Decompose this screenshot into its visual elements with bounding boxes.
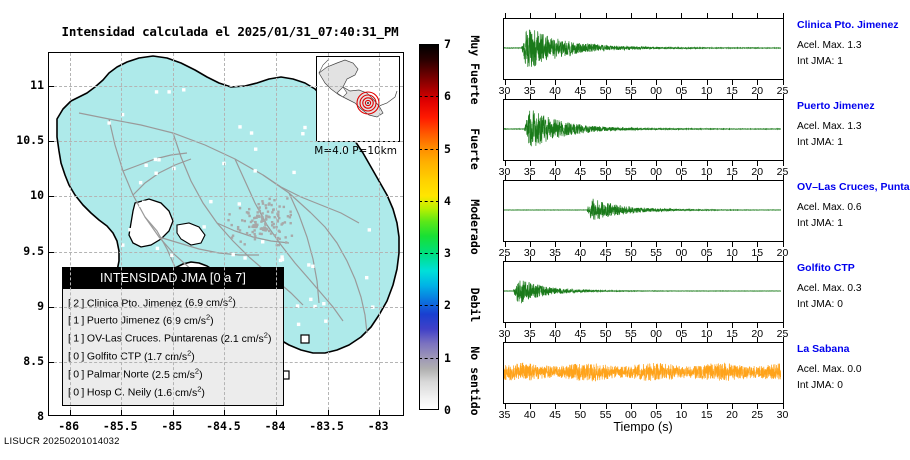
colorbar-tick-label: 1 bbox=[444, 351, 451, 365]
waveform-tick bbox=[681, 256, 682, 261]
max-acceleration-label: Acel. Max. 1.3 bbox=[797, 121, 862, 132]
town-marker bbox=[311, 265, 314, 268]
urban-cell bbox=[278, 205, 280, 207]
urban-cell bbox=[254, 238, 256, 240]
waveform-tick-row bbox=[503, 13, 784, 18]
urban-cell bbox=[244, 220, 246, 222]
urban-cell bbox=[267, 215, 269, 217]
urban-cell bbox=[268, 230, 270, 232]
town-marker bbox=[238, 125, 241, 128]
page-title: Intensidad calculada el 2025/01/31_07:40… bbox=[0, 24, 460, 39]
waveform-tick bbox=[530, 256, 531, 261]
waveform-tick bbox=[555, 175, 556, 180]
urban-cell bbox=[278, 217, 280, 219]
map-y-tick-label: 10 bbox=[30, 188, 44, 202]
map-y-tick bbox=[49, 86, 54, 87]
waveform-tick bbox=[580, 13, 581, 18]
urban-cell bbox=[285, 241, 287, 243]
waveform-tick-row bbox=[503, 337, 784, 342]
town-marker bbox=[368, 228, 371, 231]
colorbar-tick-label: 4 bbox=[444, 194, 451, 208]
town-marker bbox=[156, 247, 159, 250]
map-y-tick-label: 8.5 bbox=[23, 354, 44, 368]
urban-cell bbox=[287, 215, 289, 217]
waveform-line bbox=[504, 30, 781, 67]
urban-cell bbox=[228, 213, 230, 215]
town-marker bbox=[128, 228, 131, 231]
colorbar-tick bbox=[419, 358, 439, 359]
urban-cell bbox=[283, 206, 285, 208]
waveform-tick-label: 15 bbox=[701, 409, 713, 421]
waveform-tick bbox=[707, 94, 708, 99]
waveform-tick bbox=[505, 256, 506, 261]
waveform-tick-row bbox=[503, 161, 784, 166]
map-y-tick-label: 11 bbox=[30, 78, 44, 92]
legend-value: (6.9 cm/s2) bbox=[163, 315, 214, 327]
town-marker bbox=[243, 256, 246, 259]
waveform-xaxis-label: Tiempo (s) bbox=[613, 420, 672, 434]
legend-value: (2.1 cm/s2) bbox=[221, 333, 272, 345]
town-marker bbox=[297, 323, 300, 326]
waveform-tick bbox=[656, 337, 657, 342]
map-gridline bbox=[49, 141, 403, 142]
waveform-tick bbox=[656, 256, 657, 261]
jma-intensity-label: Int JMA: 0 bbox=[797, 299, 843, 310]
town-marker bbox=[104, 260, 107, 263]
map-gridline bbox=[49, 196, 403, 197]
max-acceleration-label: Acel. Max. 0.6 bbox=[797, 202, 862, 213]
town-marker bbox=[142, 201, 145, 204]
urban-cell bbox=[249, 234, 251, 236]
urban-cell bbox=[248, 208, 250, 210]
waveform-trace bbox=[504, 100, 781, 158]
jma-intensity-label: Int JMA: 1 bbox=[797, 56, 843, 67]
urban-cell bbox=[265, 204, 267, 206]
waveform-tick bbox=[783, 94, 784, 99]
urban-cell bbox=[239, 207, 241, 209]
colorbar-category-label: Muy Fuerte bbox=[468, 36, 482, 105]
waveform-tick bbox=[505, 337, 506, 342]
urban-cell bbox=[261, 200, 263, 202]
colorbar-tick bbox=[419, 305, 439, 306]
waveform-tick bbox=[631, 337, 632, 342]
colorbar-tick bbox=[419, 149, 439, 150]
urban-cell bbox=[251, 219, 253, 221]
waveform-tick bbox=[707, 175, 708, 180]
waveform-trace bbox=[504, 262, 781, 320]
urban-cell bbox=[278, 230, 280, 232]
map-x-tick bbox=[70, 410, 71, 415]
waveform-tick bbox=[606, 175, 607, 180]
intensity-map[interactable]: M=4.0 P=10km INTENSIDAD JMA [0 a 7] [ 2 … bbox=[48, 52, 404, 416]
waveform-tick bbox=[732, 175, 733, 180]
town-marker bbox=[322, 302, 325, 305]
waveform-tick bbox=[783, 175, 784, 180]
waveform-tick bbox=[505, 94, 506, 99]
town-marker bbox=[202, 225, 205, 228]
urban-cell bbox=[265, 217, 267, 219]
urban-cell bbox=[284, 236, 286, 238]
waveform-tick bbox=[757, 94, 758, 99]
map-y-tick-label: 9 bbox=[37, 299, 44, 313]
waveform-tick bbox=[656, 94, 657, 99]
town-marker bbox=[182, 88, 185, 91]
urban-cell bbox=[264, 224, 266, 226]
station-marker bbox=[301, 335, 309, 343]
waveform-tick bbox=[656, 13, 657, 18]
urban-cell bbox=[256, 211, 258, 213]
colorbar-tick-label: 0 bbox=[444, 403, 451, 417]
waveform-tick bbox=[681, 94, 682, 99]
waveform-tick bbox=[783, 256, 784, 261]
urban-cell bbox=[277, 220, 279, 222]
waveform-tick-label: 20 bbox=[726, 409, 738, 421]
urban-cell bbox=[270, 204, 272, 206]
inset-geometry bbox=[317, 57, 399, 141]
waveform-tick bbox=[631, 94, 632, 99]
waveform-tick bbox=[555, 256, 556, 261]
urban-cell bbox=[271, 211, 273, 213]
urban-cell bbox=[289, 211, 291, 213]
waveform-tick-label: 25 bbox=[751, 409, 763, 421]
map-x-tick-label: -83.5 bbox=[309, 419, 344, 433]
waveform-panel[interactable] bbox=[503, 261, 784, 323]
urban-cell bbox=[254, 221, 256, 223]
waveform-tick-label: 30 bbox=[777, 409, 789, 421]
urban-cell bbox=[273, 223, 275, 225]
urban-cell bbox=[259, 210, 261, 212]
map-y-tick-label: 10.5 bbox=[16, 133, 44, 147]
map-gridline bbox=[121, 53, 122, 415]
jma-intensity-label: Int JMA: 1 bbox=[797, 137, 843, 148]
urban-cell bbox=[268, 198, 270, 200]
map-x-tick bbox=[173, 410, 174, 415]
urban-cell bbox=[227, 219, 229, 221]
town-marker bbox=[232, 253, 235, 256]
waveform-line bbox=[504, 281, 781, 304]
urban-cell bbox=[254, 217, 256, 219]
map-y-tick bbox=[49, 362, 54, 363]
station-name-label[interactable]: OV–Las Cruces, Puntar bbox=[797, 181, 910, 193]
urban-cell bbox=[259, 206, 261, 208]
waveform-tick bbox=[555, 337, 556, 342]
map-gridline bbox=[70, 53, 71, 415]
map-gridline bbox=[173, 53, 174, 415]
colorbar-tick-label: 3 bbox=[444, 246, 451, 260]
urban-cell bbox=[232, 234, 234, 236]
map-x-tick-label: -84.5 bbox=[206, 419, 241, 433]
waveform-tick bbox=[606, 94, 607, 99]
urban-cell bbox=[270, 232, 272, 234]
urban-cell bbox=[254, 235, 256, 237]
map-gridline bbox=[379, 53, 380, 415]
epicenter-inset-map bbox=[316, 56, 400, 142]
waveform-tick-label: 35 bbox=[499, 409, 511, 421]
waveform-tick bbox=[530, 94, 531, 99]
urban-cell bbox=[267, 203, 269, 205]
map-y-tick bbox=[49, 196, 54, 197]
map-y-tick bbox=[49, 252, 54, 253]
waveform-tick-label: 10 bbox=[676, 409, 688, 421]
waveform-trace bbox=[504, 19, 781, 77]
urban-cell bbox=[291, 235, 293, 237]
intensity-colorbar bbox=[419, 44, 439, 410]
urban-cell bbox=[265, 215, 267, 217]
urban-cell bbox=[231, 224, 233, 226]
waveform-tick bbox=[707, 337, 708, 342]
map-gridline bbox=[328, 53, 329, 415]
waveform-tick bbox=[757, 175, 758, 180]
urban-cell bbox=[253, 229, 255, 231]
urban-cell bbox=[246, 232, 248, 234]
waveform-trace bbox=[504, 343, 781, 401]
town-marker bbox=[292, 171, 295, 174]
map-x-tick bbox=[379, 410, 380, 415]
waveform-tick bbox=[707, 13, 708, 18]
urban-cell bbox=[261, 216, 263, 218]
max-acceleration-label: Acel. Max. 0.3 bbox=[797, 283, 862, 294]
town-marker bbox=[157, 158, 160, 161]
waveform-tick-row bbox=[503, 256, 784, 261]
map-x-tick-label: -85 bbox=[161, 419, 182, 433]
map-gridline bbox=[276, 53, 277, 415]
urban-cell bbox=[290, 214, 292, 216]
waveform-panel[interactable] bbox=[503, 180, 784, 242]
colorbar-tick bbox=[419, 96, 439, 97]
waveform-tick-row bbox=[503, 323, 784, 328]
urban-cell bbox=[267, 210, 269, 212]
waveform-tick bbox=[707, 256, 708, 261]
town-marker bbox=[250, 131, 253, 134]
map-gridline bbox=[49, 252, 403, 253]
waveform-tick bbox=[580, 256, 581, 261]
town-marker bbox=[167, 90, 170, 93]
station-name-label[interactable]: Clinica Pto. Jimenez bbox=[797, 19, 899, 31]
legend-value: (1.6 cm/s2) bbox=[154, 387, 205, 399]
urban-cell bbox=[260, 233, 262, 235]
colorbar-tick-label: 6 bbox=[444, 89, 451, 103]
urban-cell bbox=[237, 226, 239, 228]
urban-cell bbox=[262, 228, 264, 230]
waveform-tick bbox=[580, 337, 581, 342]
waveform-line bbox=[504, 363, 781, 382]
legend-station: Palmar Norte bbox=[84, 369, 152, 381]
waveform-tick bbox=[783, 13, 784, 18]
waveform-tick bbox=[530, 337, 531, 342]
town-marker bbox=[155, 90, 158, 93]
map-gridline bbox=[49, 362, 403, 363]
jma-intensity-label: Int JMA: 1 bbox=[797, 218, 843, 229]
urban-cell bbox=[260, 220, 262, 222]
waveform-tick-label: 50 bbox=[574, 409, 586, 421]
town-marker bbox=[139, 181, 142, 184]
colorbar-tick-label: 2 bbox=[444, 298, 451, 312]
waveform-tick-row bbox=[503, 242, 784, 247]
map-x-tick-label: -85.5 bbox=[103, 419, 138, 433]
waveform-tick-label: 45 bbox=[549, 409, 561, 421]
urban-cell bbox=[254, 225, 256, 227]
colorbar-tick bbox=[419, 253, 439, 254]
waveform-tick bbox=[530, 175, 531, 180]
map-x-tick bbox=[276, 410, 277, 415]
urban-cell bbox=[260, 228, 262, 230]
waveform-tick bbox=[606, 13, 607, 18]
map-gridline bbox=[49, 307, 403, 308]
urban-cell bbox=[246, 211, 248, 213]
waveform-tick bbox=[757, 13, 758, 18]
map-x-tick bbox=[121, 410, 122, 415]
urban-cell bbox=[263, 220, 265, 222]
urban-cell bbox=[286, 197, 288, 199]
urban-cell bbox=[264, 229, 266, 231]
waveform-tick-row bbox=[503, 80, 784, 85]
town-marker bbox=[209, 200, 212, 203]
waveform-tick bbox=[505, 175, 506, 180]
map-x-tick bbox=[328, 410, 329, 415]
waveform-tick bbox=[631, 13, 632, 18]
station-name-label[interactable]: Puerto Jimenez bbox=[797, 100, 875, 112]
urban-cell bbox=[241, 219, 243, 221]
waveform-trace bbox=[504, 181, 781, 239]
town-marker bbox=[154, 158, 157, 161]
waveform-tick bbox=[783, 337, 784, 342]
colorbar-tick bbox=[419, 201, 439, 202]
waveform-tick bbox=[580, 94, 581, 99]
colorbar-category-label: Moderado bbox=[468, 199, 482, 254]
map-y-tick bbox=[49, 141, 54, 142]
waveform-tick bbox=[606, 256, 607, 261]
waveform-tick bbox=[631, 256, 632, 261]
legend-station: Puerto Jimenez bbox=[84, 315, 163, 327]
map-gridline bbox=[224, 53, 225, 415]
colorbar-category-label: No sentido bbox=[468, 347, 482, 416]
town-marker bbox=[307, 263, 310, 266]
waveform-panel[interactable] bbox=[503, 342, 784, 404]
map-x-tick bbox=[224, 410, 225, 415]
town-marker bbox=[144, 164, 147, 167]
waveform-panel[interactable] bbox=[503, 99, 784, 161]
map-y-tick bbox=[49, 307, 54, 308]
town-marker bbox=[254, 147, 257, 150]
colorbar-category-label: Debil bbox=[468, 288, 482, 323]
waveform-tick bbox=[631, 175, 632, 180]
waveform-tick bbox=[505, 13, 506, 18]
urban-cell bbox=[280, 223, 282, 225]
waveform-line bbox=[504, 111, 781, 147]
town-marker bbox=[139, 204, 142, 207]
urban-cell bbox=[272, 209, 274, 211]
waveform-tick bbox=[555, 13, 556, 18]
urban-cell bbox=[263, 226, 265, 228]
waveform-tick bbox=[580, 175, 581, 180]
waveform-tick bbox=[606, 337, 607, 342]
map-x-tick-label: -83 bbox=[368, 419, 389, 433]
urban-cell bbox=[261, 212, 263, 214]
waveform-tick bbox=[681, 175, 682, 180]
max-acceleration-label: Acel. Max. 1.3 bbox=[797, 40, 862, 51]
town-marker bbox=[365, 276, 368, 279]
waveform-tick bbox=[757, 256, 758, 261]
urban-cell bbox=[257, 203, 259, 205]
urban-cell bbox=[239, 229, 241, 231]
town-marker bbox=[309, 298, 312, 301]
map-x-tick-label: -86 bbox=[58, 419, 79, 433]
urban-cell bbox=[284, 221, 286, 223]
waveform-tick bbox=[732, 94, 733, 99]
urban-cell bbox=[248, 215, 250, 217]
waveform-tick bbox=[732, 256, 733, 261]
urban-cell bbox=[248, 226, 250, 228]
urban-cell bbox=[240, 240, 242, 242]
map-gridline bbox=[49, 86, 403, 87]
legend-station: OV-Las Cruces. Puntarenas bbox=[84, 333, 221, 345]
waveform-tick bbox=[681, 13, 682, 18]
urban-cell bbox=[277, 215, 279, 217]
station-name-label[interactable]: La Sabana bbox=[797, 343, 850, 355]
waveform-tick bbox=[530, 13, 531, 18]
waveform-tick-row bbox=[503, 404, 784, 409]
map-x-tick-label: -84 bbox=[265, 419, 286, 433]
urban-cell bbox=[289, 222, 291, 224]
jma-intensity-label: Int JMA: 0 bbox=[797, 380, 843, 391]
urban-cell bbox=[278, 244, 280, 246]
town-marker bbox=[301, 132, 304, 135]
waveform-tick bbox=[732, 13, 733, 18]
town-marker bbox=[303, 126, 306, 129]
town-marker bbox=[154, 172, 157, 175]
waveform-tick-label: 55 bbox=[600, 409, 612, 421]
legend-station: Hosp C. Neily bbox=[84, 387, 154, 399]
epicenter-marker bbox=[357, 92, 379, 114]
town-marker bbox=[107, 121, 110, 124]
waveform-tick bbox=[555, 94, 556, 99]
station-name-label[interactable]: Golfito CTP bbox=[797, 262, 855, 274]
waveform-tick bbox=[732, 337, 733, 342]
waveform-tick-label: 40 bbox=[524, 409, 536, 421]
colorbar-category-label: Fuerte bbox=[468, 128, 482, 170]
waveform-panel[interactable] bbox=[503, 18, 784, 80]
colorbar-tick-label: 5 bbox=[444, 142, 451, 156]
seismic-intensity-report: Intensidad calculada el 2025/01/31_07:40… bbox=[0, 0, 910, 460]
colorbar-tick-label: 7 bbox=[444, 37, 451, 51]
urban-cell bbox=[273, 226, 275, 228]
footer-stamp: LISUCR 20250201014032 bbox=[4, 436, 120, 447]
legend-value: (2.5 cm/s2) bbox=[152, 369, 203, 381]
waveform-tick bbox=[656, 175, 657, 180]
urban-cell bbox=[244, 243, 246, 245]
waveform-line bbox=[504, 199, 781, 220]
max-acceleration-label: Acel. Max. 0.0 bbox=[797, 364, 862, 375]
town-marker bbox=[261, 240, 264, 243]
waveform-tick-row bbox=[503, 94, 784, 99]
waveform-tick bbox=[757, 337, 758, 342]
urban-cell bbox=[265, 207, 267, 209]
map-y-tick-label: 8 bbox=[37, 409, 44, 423]
urban-cell bbox=[258, 216, 260, 218]
waveform-tick-row bbox=[503, 175, 784, 180]
urban-cell bbox=[278, 238, 280, 240]
town-marker bbox=[281, 258, 284, 261]
urban-cell bbox=[262, 202, 264, 204]
waveform-tick bbox=[681, 337, 682, 342]
urban-cell bbox=[277, 211, 279, 213]
town-marker bbox=[238, 202, 241, 205]
town-marker bbox=[253, 169, 256, 172]
map-y-tick-label: 9.5 bbox=[23, 244, 44, 258]
